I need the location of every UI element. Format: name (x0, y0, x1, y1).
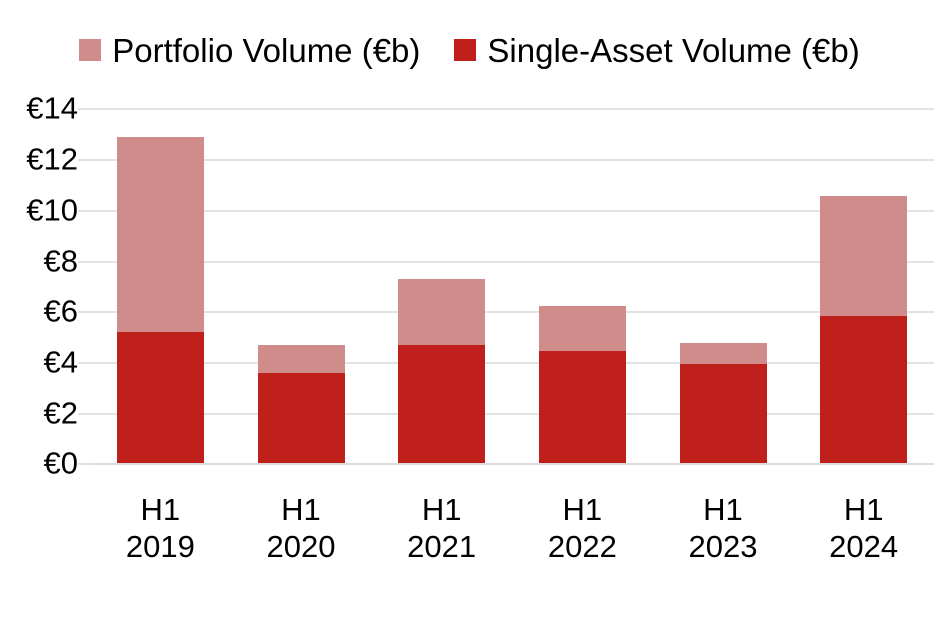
bar-segment-single-asset[interactable] (117, 332, 204, 463)
bar-segment-portfolio[interactable] (820, 196, 907, 316)
x-axis-label-line2: 2022 (512, 529, 653, 566)
x-axis-label-line1: H1 (231, 492, 372, 529)
x-axis-label-line1: H1 (90, 492, 231, 529)
x-axis-label-line1: H1 (371, 492, 512, 529)
bar-group-h1-2022[interactable] (539, 306, 626, 463)
bar-group-h1-2020[interactable] (258, 345, 345, 463)
x-axis-label-h1-2020: H1 2020 (231, 492, 372, 565)
x-axis-label-h1-2021: H1 2021 (371, 492, 512, 565)
bar-segment-single-asset[interactable] (398, 345, 485, 463)
x-axis-label-line2: 2019 (90, 529, 231, 566)
chart-container: Portfolio Volume (€b) Single-Asset Volum… (0, 0, 939, 636)
bar-segment-portfolio[interactable] (258, 345, 345, 373)
x-axis-label-line2: 2023 (653, 529, 794, 566)
x-axis-label-line1: H1 (793, 492, 934, 529)
bar-segment-single-asset[interactable] (680, 364, 767, 463)
x-axis-label-line1: H1 (512, 492, 653, 529)
bar-segment-single-asset[interactable] (820, 316, 907, 463)
bar-group-h1-2019[interactable] (117, 137, 204, 463)
bar-group-h1-2024[interactable] (820, 195, 907, 463)
x-axis-label-line2: 2020 (231, 529, 372, 566)
bar-segment-portfolio[interactable] (539, 306, 626, 352)
x-axis-label-line2: 2021 (371, 529, 512, 566)
x-axis-label-line1: H1 (653, 492, 794, 529)
bar-group-h1-2023[interactable] (680, 343, 767, 463)
x-axis-label-h1-2023: H1 2023 (653, 492, 794, 565)
bar-segment-single-asset[interactable] (258, 373, 345, 463)
bar-segment-portfolio[interactable] (117, 137, 204, 332)
x-axis-label-h1-2024: H1 2024 (793, 492, 934, 565)
bar-segment-portfolio[interactable] (398, 279, 485, 345)
x-axis-label-h1-2019: H1 2019 (90, 492, 231, 565)
bar-group-h1-2021[interactable] (398, 279, 485, 463)
x-axis-label-line2: 2024 (793, 529, 934, 566)
bar-segment-portfolio[interactable] (680, 343, 767, 365)
x-axis-label-h1-2022: H1 2022 (512, 492, 653, 565)
bar-segment-single-asset[interactable] (539, 351, 626, 463)
